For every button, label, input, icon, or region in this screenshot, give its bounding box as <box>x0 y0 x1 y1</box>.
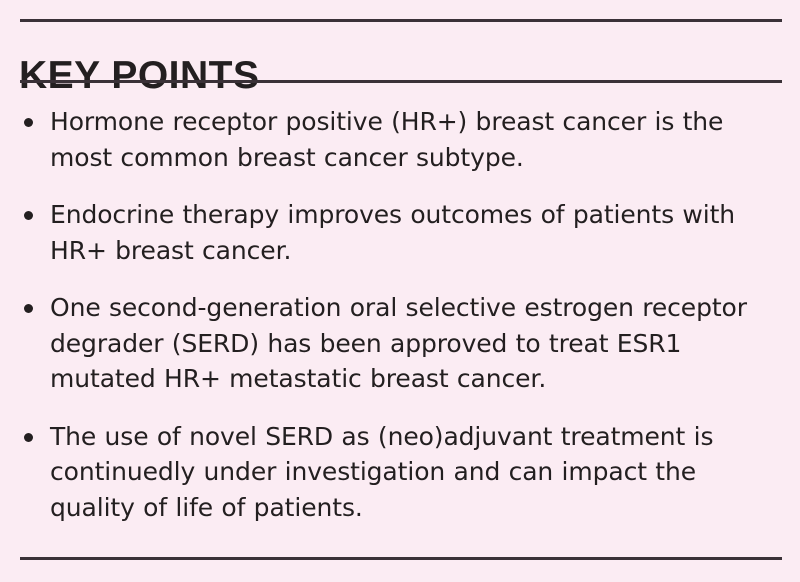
list-item: Endocrine therapy improves outcomes of p… <box>0 197 800 268</box>
list-item-text: Hormone receptor positive (HR+) breast c… <box>50 104 778 175</box>
list-item: The use of novel SERD as (neo)adjuvant t… <box>0 419 800 526</box>
page-title: KEY POINTS <box>19 53 260 99</box>
bullet-dot-icon <box>24 304 33 313</box>
bullet-dot-icon <box>24 433 33 442</box>
horizontal-rule-bottom <box>20 557 782 560</box>
list-item-text: One second-generation oral selective est… <box>50 290 778 397</box>
horizontal-rule-top <box>20 19 782 22</box>
bullet-dot-icon <box>24 211 33 220</box>
list-item: Hormone receptor positive (HR+) breast c… <box>0 104 800 175</box>
list-item: One second-generation oral selective est… <box>0 290 800 397</box>
horizontal-rule-under-title <box>20 80 782 83</box>
key-points-panel: KEY POINTS Hormone receptor positive (HR… <box>0 0 800 582</box>
key-points-list: Hormone receptor positive (HR+) breast c… <box>0 104 800 525</box>
list-item-text: Endocrine therapy improves outcomes of p… <box>50 197 778 268</box>
bullet-dot-icon <box>24 118 33 127</box>
list-item-text: The use of novel SERD as (neo)adjuvant t… <box>50 419 778 526</box>
